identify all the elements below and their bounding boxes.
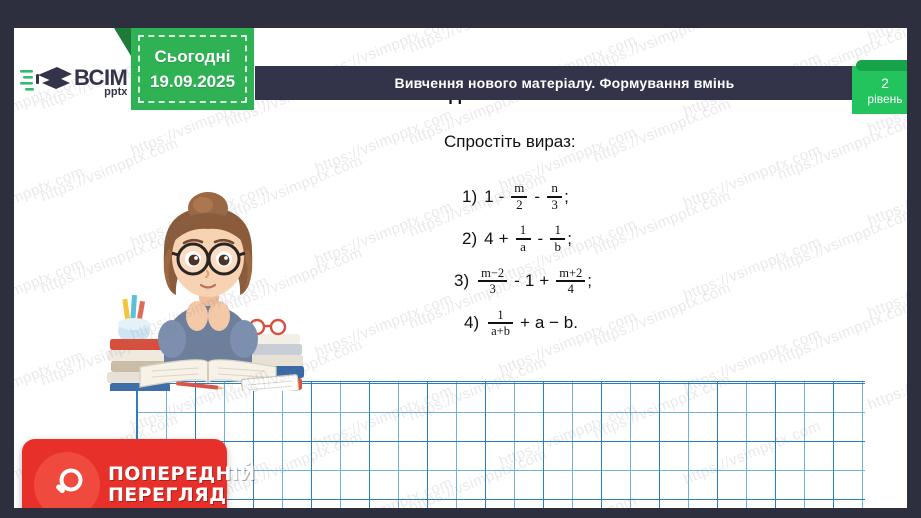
- expression-index: 2): [462, 229, 477, 249]
- fraction-denominator: a+b: [488, 324, 513, 338]
- fraction-denominator: 3: [548, 198, 561, 213]
- fraction-numerator: m+2: [556, 266, 585, 280]
- expression-term: ;: [564, 187, 569, 207]
- fraction-numerator: 1: [517, 223, 530, 238]
- expression-operator: -: [499, 187, 505, 207]
- expression-term: 4: [484, 229, 493, 249]
- expression-operator: +: [539, 271, 549, 291]
- fraction: m+24: [556, 266, 585, 296]
- brand-logo-text: ВСІМ pptx: [74, 67, 127, 98]
- fraction: n3: [547, 181, 562, 212]
- preview-button[interactable]: ПОПЕРЕДНІЙ ПЕРЕГЛЯД: [22, 439, 227, 508]
- expression-operator: -: [538, 229, 544, 249]
- graduation-cap-icon: [20, 62, 72, 102]
- expression-row: 4)1a+b+a − b.: [464, 302, 592, 344]
- fraction-denominator: 4: [565, 282, 577, 296]
- level-badge: 2 рівень: [852, 66, 907, 114]
- student-girl-with-books-illustration: [102, 191, 314, 391]
- expression-term: 1: [484, 187, 493, 207]
- fraction-denominator: b: [551, 240, 564, 255]
- expression-operator: -: [534, 187, 540, 207]
- expression-term: ;: [587, 271, 592, 291]
- fraction: 1b: [550, 223, 565, 254]
- preview-button-line1: ПОПЕРЕДНІЙ: [108, 464, 256, 485]
- fraction-denominator: 3: [487, 282, 499, 296]
- date-banner-date: 19.09.2025: [150, 69, 235, 95]
- date-banner: Сьогодні 19.09.2025: [131, 28, 254, 110]
- preview-button-line2: ПЕРЕГЛЯД: [108, 485, 256, 506]
- fraction: 1a+b: [488, 308, 513, 338]
- expression-list: 1)1-m2-n3;2)4+1a-1b;3)m−23-1+m+24;4)1a+b…: [454, 176, 592, 344]
- fraction: m2: [511, 181, 527, 212]
- fraction: m−23: [478, 266, 507, 296]
- fraction-numerator: 1: [494, 308, 506, 322]
- brand-logo: ВСІМ pptx: [14, 58, 134, 106]
- expression-term: ;: [567, 229, 572, 249]
- expression-index: 4): [464, 313, 479, 333]
- lesson-section-header: Вивчення нового матеріалу. Формування вм…: [255, 66, 907, 100]
- fraction-numerator: m: [511, 181, 527, 196]
- expression-term: a − b.: [535, 313, 578, 333]
- fraction-denominator: a: [517, 240, 529, 255]
- fraction-numerator: n: [548, 181, 561, 196]
- level-number: 2: [881, 76, 889, 91]
- expression-row: 3)m−23-1+m+24;: [454, 260, 592, 302]
- fraction-numerator: 1: [551, 223, 564, 238]
- fraction: 1a: [516, 223, 531, 254]
- fraction-numerator: m−2: [478, 266, 507, 280]
- expression-operator: -: [514, 271, 520, 291]
- date-banner-label: Сьогодні: [155, 44, 231, 70]
- expression-index: 3): [454, 271, 469, 291]
- expression-index: 1): [462, 187, 477, 207]
- task-prompt: Спростіть вираз:: [444, 132, 576, 152]
- lesson-section-title: Вивчення нового матеріалу. Формування вм…: [395, 75, 775, 91]
- expression-operator: +: [520, 313, 530, 333]
- slide-canvas: https://vsimpptx.comhttps://vsimpptx.com…: [14, 28, 907, 508]
- magnifier-icon: [34, 452, 100, 508]
- level-label: рівень: [867, 92, 902, 106]
- expression-term: 1: [525, 271, 534, 291]
- fraction-denominator: 2: [513, 198, 526, 213]
- expression-row: 1)1-m2-n3;: [462, 176, 592, 218]
- expression-row: 2)4+1a-1b;: [462, 218, 592, 260]
- expression-operator: +: [499, 229, 509, 249]
- preview-button-label: ПОПЕРЕДНІЙ ПЕРЕГЛЯД: [108, 464, 256, 507]
